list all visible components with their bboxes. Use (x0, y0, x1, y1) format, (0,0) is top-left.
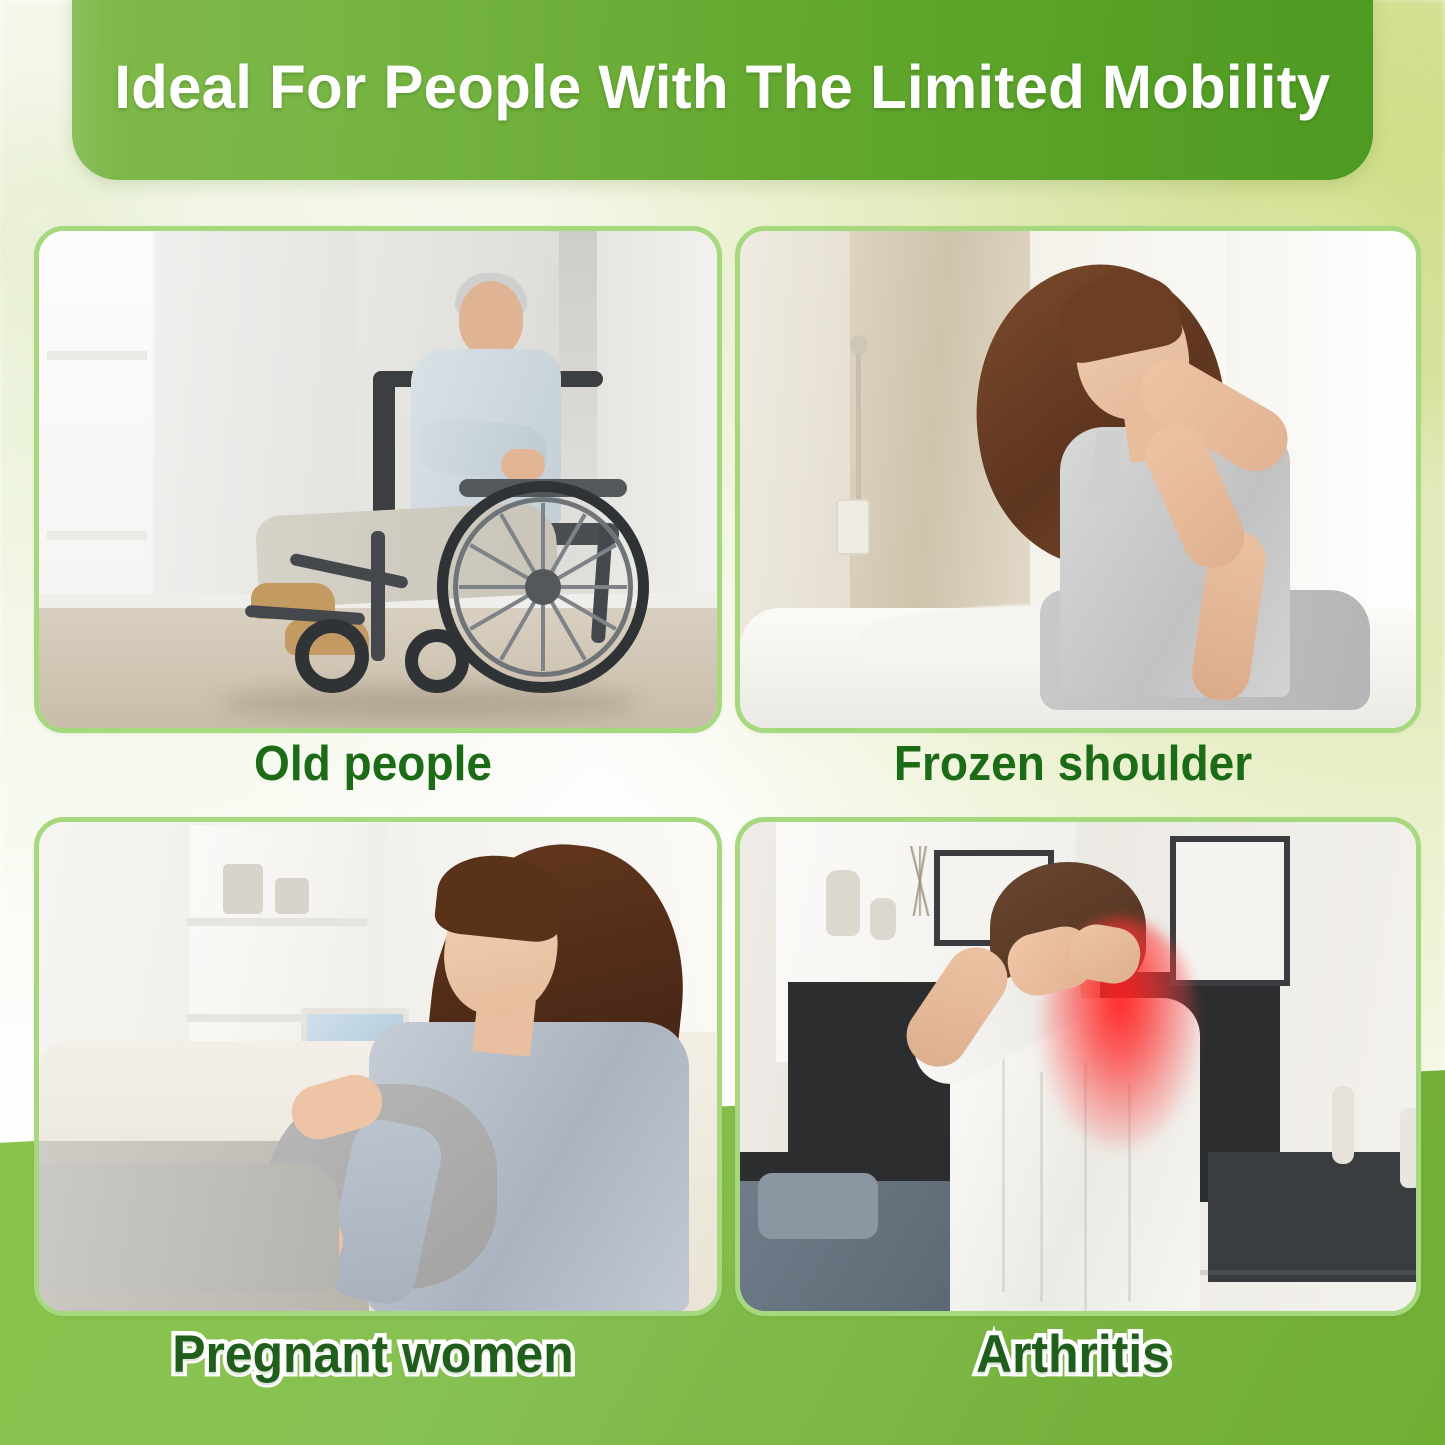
card-frozen-shoulder[interactable] (735, 226, 1421, 733)
photo-pregnant-women (39, 822, 717, 1311)
label-old-people: Old people (54, 736, 691, 792)
card-pregnant-women[interactable] (34, 817, 722, 1316)
header-banner: Ideal For People With The Limited Mobili… (72, 0, 1373, 180)
photo-arthritis (740, 822, 1416, 1311)
card-arthritis[interactable] (735, 817, 1421, 1316)
card-old-people[interactable] (34, 226, 722, 733)
label-pregnant-women: Pregnant women (54, 1324, 691, 1385)
photo-frozen-shoulder (740, 231, 1416, 728)
infographic-root: Ideal For People With The Limited Mobili… (0, 0, 1445, 1445)
label-arthritis: Arthritis (755, 1324, 1390, 1385)
photo-old-people (39, 231, 717, 728)
label-frozen-shoulder: Frozen shoulder (755, 736, 1390, 792)
page-title: Ideal For People With The Limited Mobili… (114, 52, 1330, 180)
